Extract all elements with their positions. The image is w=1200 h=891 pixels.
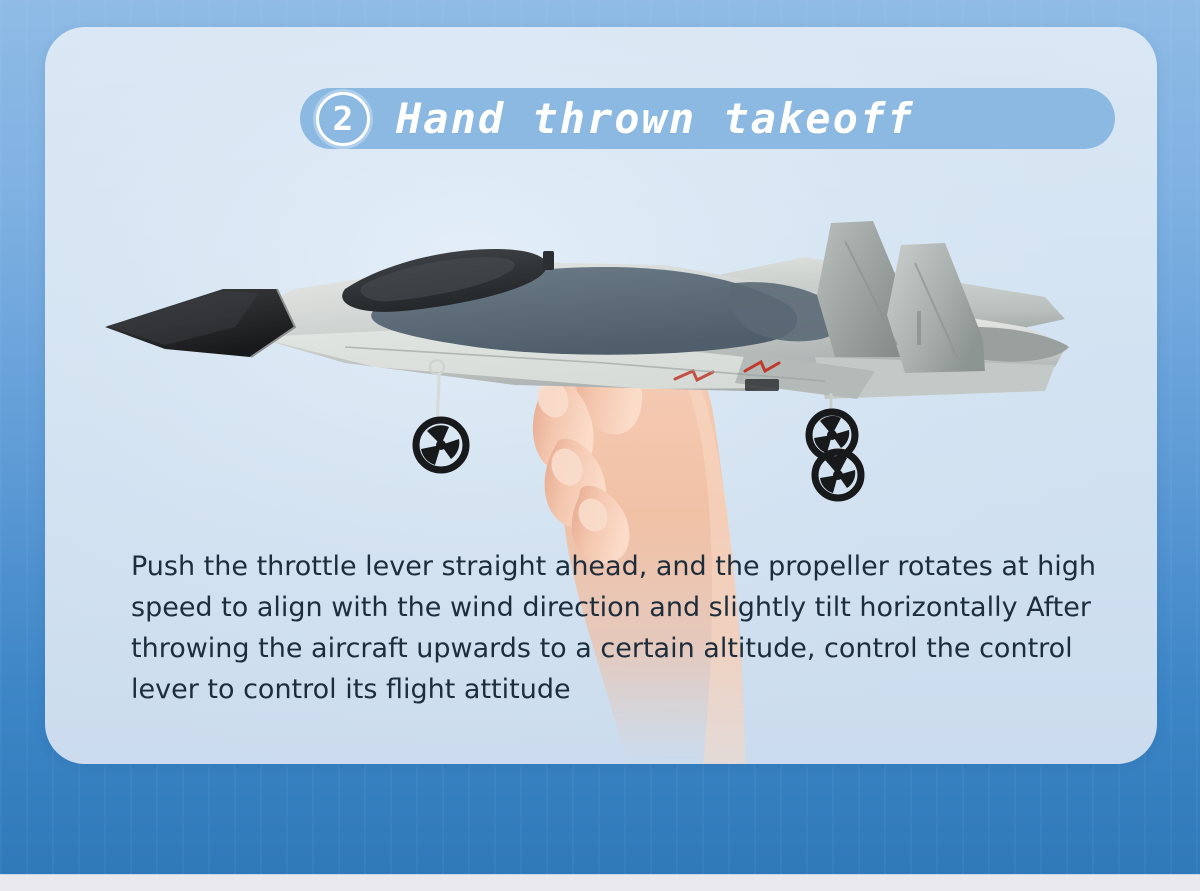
step-title-banner: 2 Hand thrown takeoff	[300, 88, 1115, 149]
instruction-line: throwing the aircraft upwards to a certa…	[131, 628, 1101, 669]
belly-hatch	[745, 379, 779, 391]
instruction-line: Push the throttle lever straight ahead, …	[131, 546, 1101, 587]
instruction-card: 2 Hand thrown takeoff Push the throttle …	[45, 27, 1157, 764]
instruction-text: Push the throttle lever straight ahead, …	[131, 546, 1101, 710]
step-number-text: 2	[333, 102, 354, 135]
antenna	[543, 251, 554, 270]
instruction-page: 2 Hand thrown takeoff Push the throttle …	[0, 0, 1200, 891]
fin-marking	[917, 311, 921, 345]
step-number-badge: 2	[316, 92, 370, 146]
instruction-line: lever to control its flight attitude	[131, 669, 1101, 710]
instruction-line: speed to align with the wind direction a…	[131, 587, 1101, 628]
bottom-strip	[0, 874, 1200, 891]
page-title: Hand thrown takeoff	[396, 94, 914, 143]
